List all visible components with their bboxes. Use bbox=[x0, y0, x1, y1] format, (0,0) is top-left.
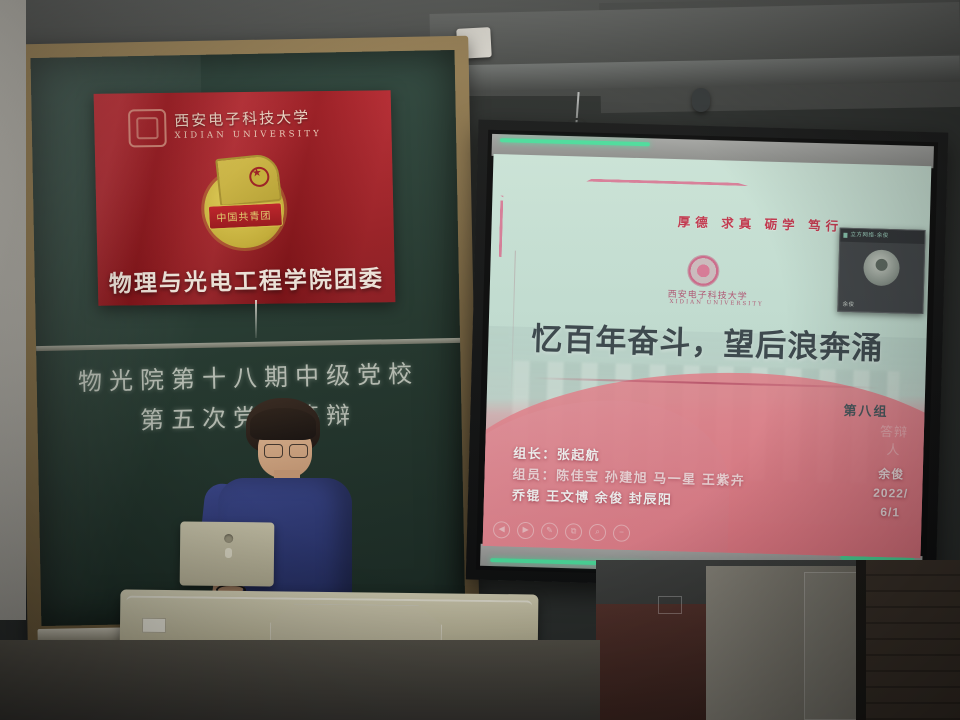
emblem-ribbon: 中国共青团 bbox=[208, 202, 283, 229]
floor bbox=[0, 640, 600, 720]
copy-icon[interactable]: ⧉ bbox=[565, 523, 582, 540]
banner-tie-string bbox=[255, 300, 257, 338]
glasses-icon bbox=[264, 444, 308, 456]
minus-icon[interactable]: − bbox=[613, 524, 630, 541]
tiled-wall-column bbox=[866, 560, 960, 720]
slide-faded-label: 答辩 人 bbox=[879, 423, 908, 460]
classroom-scene: 物光院第十八期中级党校 第五次党课答辩 西安电子科技大学 XIDIAN UNIV… bbox=[0, 0, 960, 720]
left-wall bbox=[0, 0, 26, 620]
zoom-icon[interactable]: ⌕ bbox=[589, 524, 606, 541]
banner-seal-icon bbox=[128, 109, 167, 147]
slide-roster: 组长：张起航 组员：陈佳宝 孙建旭 马一星 王紫卉 乔锟 王文博 余俊 封辰阳 bbox=[512, 443, 747, 512]
video-call-status-icon bbox=[843, 233, 847, 238]
banner-university-name-cn: 西安电子科技大学 bbox=[174, 106, 311, 131]
video-call-titlebar: 立方网络-余俊 bbox=[840, 229, 924, 244]
red-banner: 西安电子科技大学 XIDIAN UNIVERSITY 中国共青团 物理与光电工程… bbox=[94, 90, 396, 306]
avatar bbox=[863, 249, 900, 286]
video-call-participant-name: 余俊 bbox=[842, 300, 854, 308]
monitor-knob-icon[interactable] bbox=[224, 534, 233, 543]
banner-university-name-en: XIDIAN UNIVERSITY bbox=[174, 129, 322, 141]
next-icon[interactable]: ▶ bbox=[517, 522, 534, 539]
slide-logo-name-en: XIDIAN UNIVERSITY bbox=[669, 299, 763, 308]
presenter-fringe bbox=[250, 408, 316, 440]
emblem-flag-icon bbox=[215, 153, 282, 207]
pen-icon[interactable]: ✎ bbox=[541, 522, 558, 539]
slide-date-line-2: 6/1 bbox=[872, 503, 908, 523]
emblem-star-icon bbox=[248, 166, 270, 188]
slide-faded-label-line2: 人 bbox=[879, 441, 908, 460]
xidian-seal-icon bbox=[688, 255, 719, 286]
wall-wainscot bbox=[596, 604, 708, 720]
slide-faded-label-line1: 答辩 bbox=[880, 423, 909, 442]
emblem-ribbon-text: 中国共青团 bbox=[216, 207, 272, 225]
youth-league-emblem-icon: 中国共青团 bbox=[195, 151, 293, 248]
slide-author-block: 余俊 2022/ 6/1 bbox=[872, 465, 909, 523]
door-panel bbox=[804, 572, 864, 720]
video-call-window[interactable]: 立方网络-余俊 余俊 bbox=[837, 228, 925, 314]
ceiling-camera-2-icon bbox=[692, 88, 710, 112]
prev-icon[interactable]: ◀ bbox=[493, 521, 510, 538]
projection-display[interactable]: 厚德 求真 砺学 笃行 西安电子科技大学 XIDIAN UNIVERSITY 忆… bbox=[466, 120, 949, 593]
slide-university-motto: 厚德 求真 砺学 笃行 bbox=[678, 211, 844, 235]
banner-department-text: 物理与光电工程学院团委 bbox=[97, 259, 395, 299]
slide-group-tag: 第八组 bbox=[843, 400, 889, 420]
classroom-door[interactable] bbox=[706, 566, 866, 720]
podium-label-tag bbox=[142, 618, 166, 633]
slide-author-name: 余俊 bbox=[873, 465, 909, 485]
slide-date-line-1: 2022/ bbox=[873, 484, 909, 504]
light-switch-icon[interactable] bbox=[658, 596, 682, 614]
monitor-switch-icon[interactable] bbox=[225, 548, 232, 558]
presentation-slide[interactable]: 厚德 求真 砺学 笃行 西安电子科技大学 XIDIAN UNIVERSITY 忆… bbox=[483, 154, 932, 558]
